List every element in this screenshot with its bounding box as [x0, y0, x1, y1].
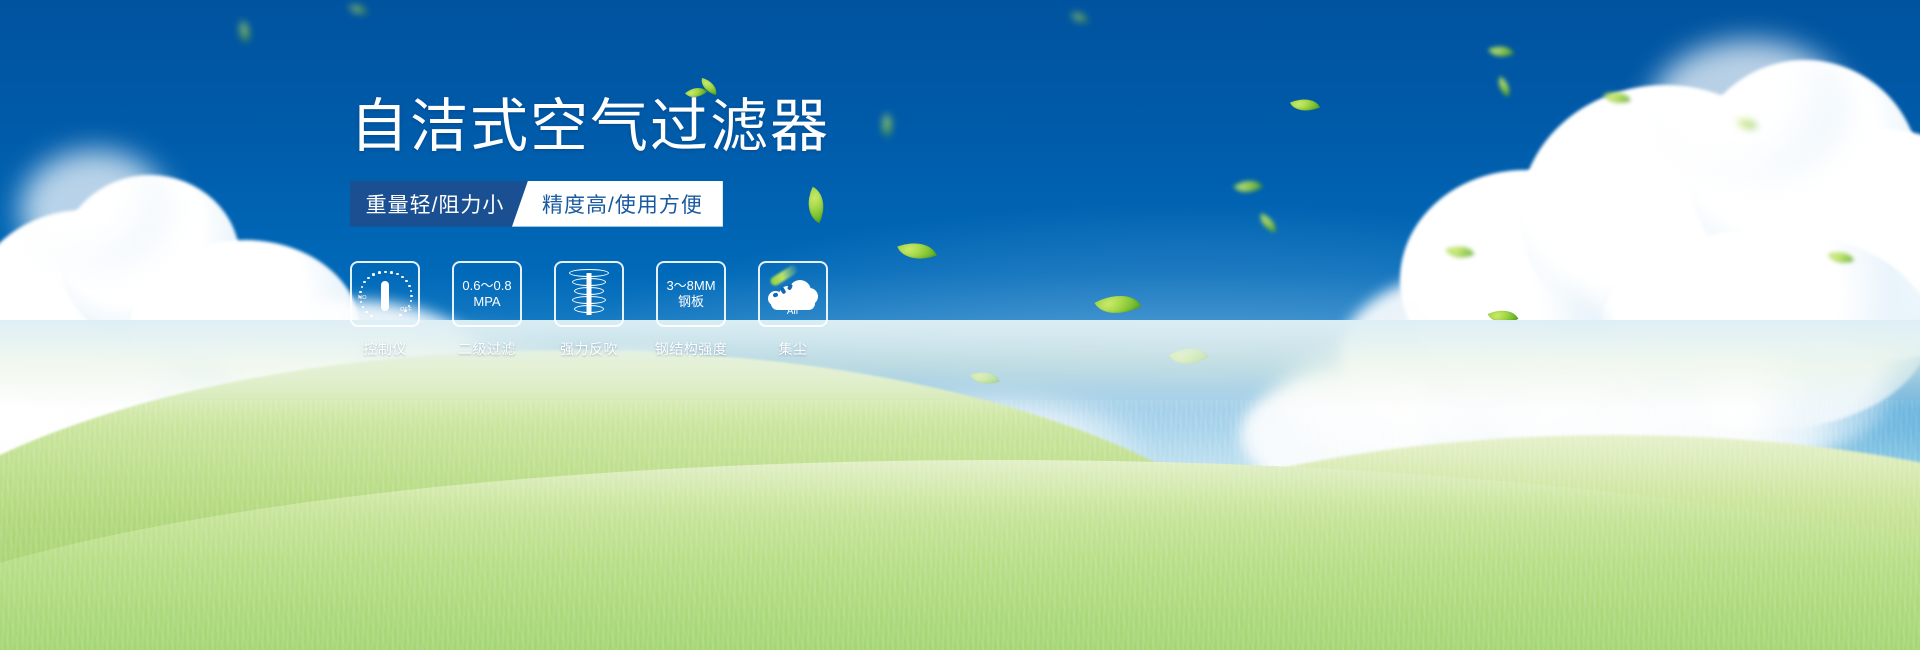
feature-caption: 强力反吹 [560, 339, 618, 359]
feature-box-line: 钢板 [678, 294, 704, 309]
leaf-decoration [349, 2, 367, 16]
leaf-decoration [1737, 116, 1757, 132]
hero-banner: 自洁式空气过滤器 重量轻/阻力小 精度高/使用方便 [0, 0, 1920, 650]
feature-steel-strength[interactable]: 3～8MM 钢板 钢结构强度 [656, 261, 726, 359]
feature-caption: 控制仪 [363, 339, 407, 359]
grass-texture [0, 400, 1920, 650]
leaf-decoration [1828, 247, 1854, 269]
feature-box-line: MPA [473, 294, 500, 309]
air-cloud-icon: Air [767, 272, 819, 316]
tab-precision-ease[interactable]: 精度高/使用方便 [512, 181, 723, 227]
title-leaf-icon [687, 80, 721, 106]
coil-icon [568, 269, 610, 319]
banner-content: 自洁式空气过滤器 重量轻/阻力小 精度高/使用方便 [350, 96, 1050, 359]
air-label: Air [767, 306, 819, 318]
feature-caption: 二级过滤 [458, 339, 516, 359]
feature-dust-collection[interactable]: Air 集尘 [758, 261, 828, 359]
leaf-decoration [1603, 87, 1630, 109]
feature-icon-box: NO OFF [350, 261, 420, 327]
feature-icon-box: Air [758, 261, 828, 327]
leaf-decoration [1094, 284, 1141, 325]
feature-box-line: 3～8MM [666, 278, 715, 293]
feature-tabs: 重量轻/阻力小 精度高/使用方便 [350, 181, 1050, 227]
feature-secondary-filtration[interactable]: 0.6～0.8 MPA 二级过滤 [452, 261, 522, 359]
feature-icon-box: 3～8MM 钢板 [656, 261, 726, 327]
feature-list: NO OFF 控制仪 0.6～0.8 MPA 二级过滤 [350, 261, 1050, 359]
grass-field [0, 320, 1920, 650]
leaf-decoration [1233, 173, 1262, 201]
feature-strong-backblow[interactable]: 强力反吹 [554, 261, 624, 359]
leaf-decoration [235, 20, 254, 42]
feature-icon-box: 0.6～0.8 MPA [452, 261, 522, 327]
leaf-decoration [1493, 76, 1515, 97]
gauge-label-on: NO [358, 295, 367, 301]
leaf-decoration [1290, 93, 1320, 118]
gauge-label-off: OFF [400, 307, 412, 313]
leaf-decoration [1488, 40, 1514, 63]
feature-box-line: 0.6～0.8 [462, 278, 511, 293]
feature-controller[interactable]: NO OFF 控制仪 [350, 261, 420, 359]
feature-caption: 集尘 [779, 339, 808, 359]
leaf-decoration [1256, 213, 1280, 233]
tab-weight-resistance[interactable]: 重量轻/阻力小 [350, 181, 528, 227]
leaf-decoration [1071, 11, 1088, 24]
feature-icon-box [554, 261, 624, 327]
leaf-decoration [1446, 240, 1474, 264]
feature-caption: 钢结构强度 [655, 339, 728, 359]
gauge-icon: NO OFF [358, 269, 412, 319]
